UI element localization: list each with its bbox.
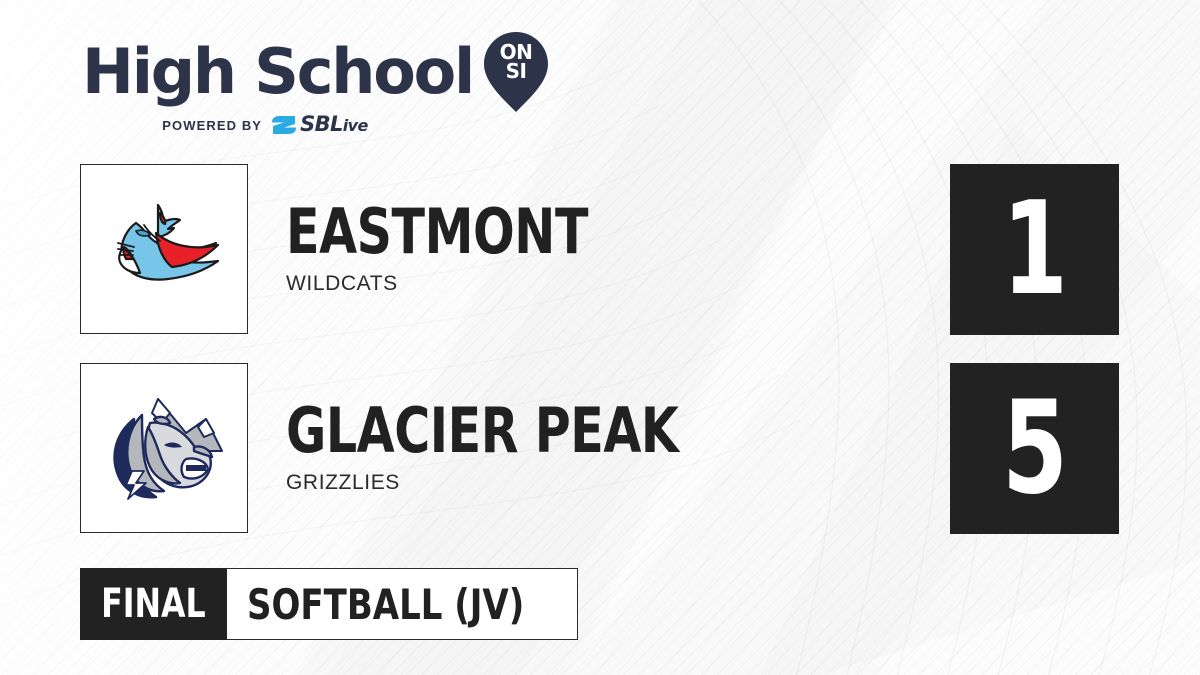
team-name: GLACIER PEAK (286, 401, 678, 461)
powered-by-label: POWERED BY (162, 118, 262, 133)
on-si-pin-text: ON SI (483, 43, 549, 81)
brand-logo: High School ON SI POWERED BY SBLive (82, 32, 512, 136)
brand-title: High School (82, 41, 473, 103)
status-final-label: FINAL (101, 581, 206, 627)
brand-title-row: High School ON SI (82, 32, 512, 112)
team-logo-eastmont (80, 164, 248, 334)
on-si-pin-icon: ON SI (483, 32, 549, 112)
sblive-main: SBL (300, 112, 343, 136)
sblive-tail: ive (343, 116, 368, 135)
team-logo-glacier-peak (80, 363, 248, 533)
powered-by-row: POWERED BY SBLive (70, 114, 460, 136)
sblive-logo: SBLive (271, 114, 368, 136)
team-name: EASTMONT (286, 202, 588, 262)
pin-line-si: SI (483, 62, 549, 81)
wildcat-head-icon (100, 189, 228, 309)
score-box-eastmont: 1 (950, 164, 1119, 335)
scoreboard-graphic: High School ON SI POWERED BY SBLive (0, 0, 1200, 675)
score-box-glacier-peak: 5 (950, 363, 1119, 534)
score-value: 1 (1002, 186, 1067, 314)
team-row: GLACIER PEAK GRIZZLIES (80, 363, 732, 533)
team-text-block: EASTMONT WILDCATS (286, 202, 629, 296)
status-badge-final: FINAL (80, 568, 227, 640)
sblive-bolt-icon (271, 114, 297, 136)
game-status-bar: FINAL SOFTBALL (JV) (80, 568, 578, 640)
status-sport: SOFTBALL (JV) (227, 568, 578, 640)
sblive-wordmark: SBLive (300, 114, 368, 136)
score-value: 5 (1002, 385, 1067, 513)
status-sport-label: SOFTBALL (JV) (247, 580, 524, 629)
team-mascot: WILDCATS (286, 272, 629, 296)
team-row: EASTMONT WILDCATS (80, 164, 629, 334)
team-text-block: GLACIER PEAK GRIZZLIES (286, 401, 732, 495)
grizzly-bear-mountain-icon (102, 389, 226, 507)
team-mascot: GRIZZLIES (286, 471, 732, 495)
